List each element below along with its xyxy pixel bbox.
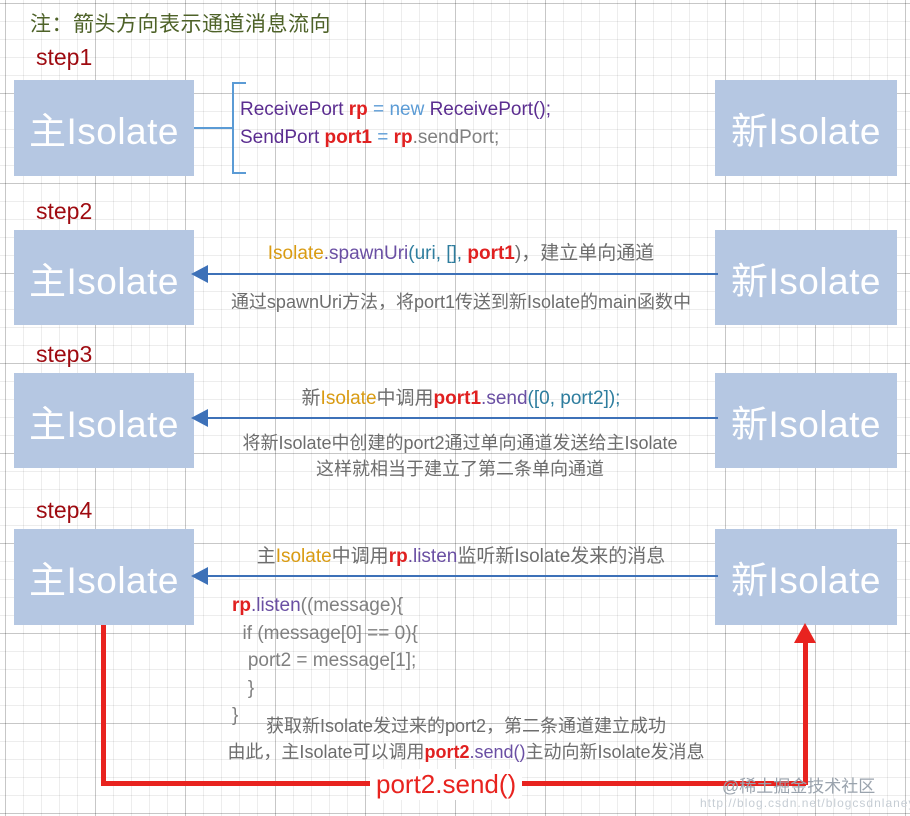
step3-main-isolate-box: 主Isolate <box>14 373 194 468</box>
step3-new-isolate-box: 新Isolate <box>715 373 897 468</box>
step4-main-isolate-box: 主Isolate <box>14 529 194 625</box>
step2-new-isolate-label: 新Isolate <box>731 251 881 305</box>
step1-main-isolate-box: 主Isolate <box>14 80 194 176</box>
text-run: = <box>368 99 390 120</box>
text-run: port2 <box>424 742 469 762</box>
step3-below-arrow-text: 将新Isolate中创建的port2通过单向通道发送给主Isolate这样就相当… <box>180 429 740 481</box>
step2-main-isolate-box: 主Isolate <box>14 230 194 325</box>
text-run: .sendPort; <box>413 127 500 148</box>
text-run: 获取新Isolate发过来的port2，第二条通道建立成功 <box>266 716 666 736</box>
text-run: = <box>372 127 394 148</box>
step4-below-line-1: 由此，主Isolate可以调用port2.send()主动向新Isolate发消… <box>196 738 736 764</box>
text-run: Isolate <box>268 243 324 264</box>
step3-label: step3 <box>36 341 92 368</box>
step4-code-block: rp.listen((message){ if (message[0] == 0… <box>232 592 418 730</box>
text-run: 主动向新Isolate发消息 <box>526 742 705 762</box>
text-run: new <box>389 99 424 120</box>
red-path-label: port2.send() <box>370 769 522 800</box>
red-path-vertical-left <box>101 625 106 785</box>
step4-code-line-2: port2 = message[1]; <box>232 647 418 675</box>
text-run: ([0, port2]); <box>528 388 621 409</box>
text-run: 通过spawnUri方法，将port1传送到新Isolate的main函数中 <box>231 292 691 312</box>
step1-code-line-0: ReceivePort rp = new ReceivePort(); <box>240 96 551 124</box>
text-run: ((message){ <box>301 595 403 616</box>
step2-arrow-head <box>191 265 208 283</box>
text-run: 新 <box>302 388 321 409</box>
text-run: if (message[0] == 0){ <box>232 623 418 644</box>
text-run: port1 <box>325 127 373 148</box>
diagram-note: 注：箭头方向表示通道消息流向 <box>30 8 331 38</box>
text-run: port1 <box>467 243 515 264</box>
step3-below-line-1: 这样就相当于建立了第二条单向通道 <box>180 455 740 481</box>
text-run: ReceivePort(); <box>424 99 551 120</box>
step1-main-isolate-label: 主Isolate <box>29 101 179 155</box>
step3-below-line-0: 将新Isolate中创建的port2通过单向通道发送给主Isolate <box>180 429 740 455</box>
step2-arrow-line <box>206 273 718 275</box>
text-run: SendPort <box>240 127 325 148</box>
watermark-handle: @稀土掘金技术社区 <box>722 772 875 797</box>
step2-below-line-0: 通过spawnUri方法，将port1传送到新Isolate的main函数中 <box>196 288 726 314</box>
text-run: .send <box>481 388 527 409</box>
step4-below-line-0: 获取新Isolate发过来的port2，第二条通道建立成功 <box>196 712 736 738</box>
text-run: .listen <box>251 595 301 616</box>
text-run: 主 <box>257 546 276 567</box>
text-run: .listen <box>408 546 458 567</box>
step3-above-line-0: 新Isolate中调用port1.send([0, port2]); <box>196 385 726 413</box>
step1-code-block: ReceivePort rp = new ReceivePort();SendP… <box>240 96 551 151</box>
step1-new-isolate-box: 新Isolate <box>715 80 897 176</box>
step2-below-arrow-text: 通过spawnUri方法，将port1传送到新Isolate的main函数中 <box>196 288 726 314</box>
step2-new-isolate-box: 新Isolate <box>715 230 897 325</box>
red-path-vertical-right <box>803 640 808 785</box>
text-run: 中调用 <box>332 546 389 567</box>
step4-code-line-0: rp.listen((message){ <box>232 592 418 620</box>
text-run: rp <box>349 99 368 120</box>
text-run: port2 = message[1]; <box>232 650 416 671</box>
step1-code-line-1: SendPort port1 = rp.sendPort; <box>240 124 551 152</box>
red-path-arrow-head <box>794 623 816 643</box>
text-run: rp <box>232 595 251 616</box>
text-run: 由此，主Isolate可以调用 <box>227 742 424 762</box>
step1-label: step1 <box>36 44 92 71</box>
step3-main-isolate-label: 主Isolate <box>29 394 179 448</box>
text-run: port1 <box>434 388 482 409</box>
step4-label: step4 <box>36 497 92 524</box>
step4-main-isolate-label: 主Isolate <box>29 550 179 604</box>
text-run: rp <box>389 546 408 567</box>
step4-code-line-3: } <box>232 675 418 703</box>
step2-main-isolate-label: 主Isolate <box>29 251 179 305</box>
text-run: Isolate <box>321 388 377 409</box>
step3-arrow-line <box>206 417 718 419</box>
text-run: )，建立单向通道 <box>515 243 654 264</box>
watermark-url: http://blog.csdn.net/blogcsdnlaneys <box>700 796 910 810</box>
text-run: rp <box>394 127 413 148</box>
text-run: 监听新Isolate发来的消息 <box>457 546 665 567</box>
step1-new-isolate-label: 新Isolate <box>731 101 881 155</box>
step4-code-line-1: if (message[0] == 0){ <box>232 620 418 648</box>
step4-new-isolate-label: 新Isolate <box>731 550 881 604</box>
text-run: } <box>232 678 254 699</box>
text-run: Isolate <box>276 546 332 567</box>
text-run: .send() <box>469 742 525 762</box>
step1-bracket-stem <box>194 127 234 129</box>
text-run: .spawnUri <box>324 243 408 264</box>
text-run: ReceivePort <box>240 99 349 120</box>
step4-new-isolate-box: 新Isolate <box>715 529 897 625</box>
text-run: 将新Isolate中创建的port2通过单向通道发送给主Isolate <box>242 433 677 453</box>
step3-above-arrow-text: 新Isolate中调用port1.send([0, port2]); <box>196 385 726 413</box>
step4-below-code-text: 获取新Isolate发过来的port2，第二条通道建立成功由此，主Isolate… <box>196 712 736 764</box>
step4-above-line-0: 主Isolate中调用rp.listen监听新Isolate发来的消息 <box>196 543 726 571</box>
text-run: (uri, [], <box>408 243 467 264</box>
step2-label: step2 <box>36 198 92 225</box>
step2-above-line-0: Isolate.spawnUri(uri, [], port1)，建立单向通道 <box>196 240 726 268</box>
step3-new-isolate-label: 新Isolate <box>731 394 881 448</box>
text-run: 这样就相当于建立了第二条单向通道 <box>316 459 604 479</box>
step4-above-arrow-text: 主Isolate中调用rp.listen监听新Isolate发来的消息 <box>196 543 726 571</box>
diagram-canvas: 注：箭头方向表示通道消息流向 step1 主Isolate 新Isolate R… <box>0 0 910 816</box>
step2-above-arrow-text: Isolate.spawnUri(uri, [], port1)，建立单向通道 <box>196 240 726 268</box>
step4-arrow-line <box>206 575 718 577</box>
text-run: 中调用 <box>377 388 434 409</box>
